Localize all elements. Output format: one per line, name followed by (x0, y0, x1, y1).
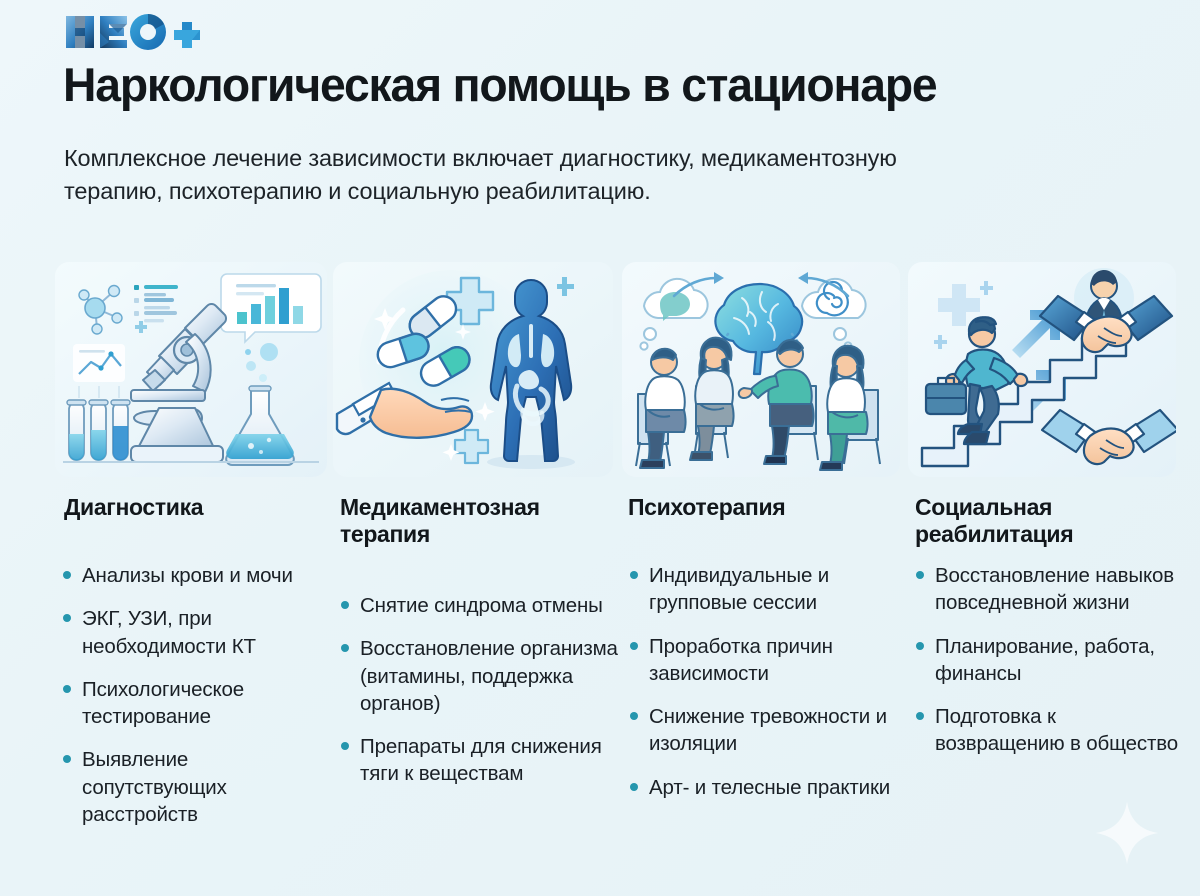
stairs-handshake-icon (908, 262, 1176, 477)
column-medication-therapy: Медикаментозная терапия Снятие синдрома … (333, 262, 613, 477)
list-item: Арт- и телесные практики (628, 774, 906, 801)
column-list: Восстановление навыков повседневной жизн… (914, 562, 1182, 774)
list-item: Психологическое тестирование (61, 676, 333, 731)
list-item: Снятие синдрома отмены (339, 592, 619, 619)
column-heading: Диагностика (64, 494, 203, 521)
laboratory-microscope-icon (55, 262, 327, 477)
illustration-group-therapy (622, 262, 900, 477)
list-item: Снижение тревожности и изоляции (628, 703, 906, 758)
column-social-rehabilitation: Социальная реабилитация Восстановление н… (908, 262, 1176, 477)
page-title: Наркологическая помощь в стационаре (63, 60, 1137, 110)
illustration-laboratory (55, 262, 327, 477)
group-therapy-brain-icon (622, 262, 900, 477)
column-list: Снятие синдрома отмены Восстановление ор… (339, 592, 619, 804)
list-item: Анализы крови и мочи (61, 562, 333, 589)
list-item: Индивидуальные и групповые сессии (628, 562, 906, 617)
column-heading: Психотерапия (628, 494, 785, 521)
column-diagnostics: Диагностика Анализы крови и мочи ЭКГ, УЗ… (55, 262, 327, 477)
list-item: Подготовка к возвращению в общество (914, 703, 1182, 758)
columns-container: Диагностика Анализы крови и мочи ЭКГ, УЗ… (0, 262, 1200, 896)
list-item: Препараты для снижения тяги к веществам (339, 733, 619, 788)
column-list: Индивидуальные и групповые сессии Прораб… (628, 562, 906, 817)
list-item: Проработка причин зависимости (628, 633, 906, 688)
logo-neo-plus-icon (64, 12, 204, 52)
list-item: ЭКГ, УЗИ, при необходимости КТ (61, 605, 333, 660)
hand-with-pills-and-body-icon (333, 262, 613, 477)
brand-logo (64, 12, 204, 52)
illustration-social-rehab (908, 262, 1176, 477)
column-heading: Социальная реабилитация (915, 494, 1176, 548)
column-psychotherapy: Психотерапия Индивидуальные и групповые … (622, 262, 900, 477)
illustration-medication (333, 262, 613, 477)
list-item: Восстановление навыков повседневной жизн… (914, 562, 1182, 617)
list-item: Выявление сопутствующих расстройств (61, 746, 333, 828)
list-item: Планирование, работа, финансы (914, 633, 1182, 688)
column-heading: Медикаментозная терапия (340, 494, 613, 548)
infographic-page: Наркологическая помощь в стационаре Комп… (0, 0, 1200, 896)
sparkle-star-icon (1092, 798, 1162, 868)
page-subtitle: Комплексное лечение зависимости включает… (64, 142, 964, 209)
list-item: Восстановление организма (витамины, подд… (339, 635, 619, 717)
column-list: Анализы крови и мочи ЭКГ, УЗИ, при необх… (61, 562, 333, 844)
